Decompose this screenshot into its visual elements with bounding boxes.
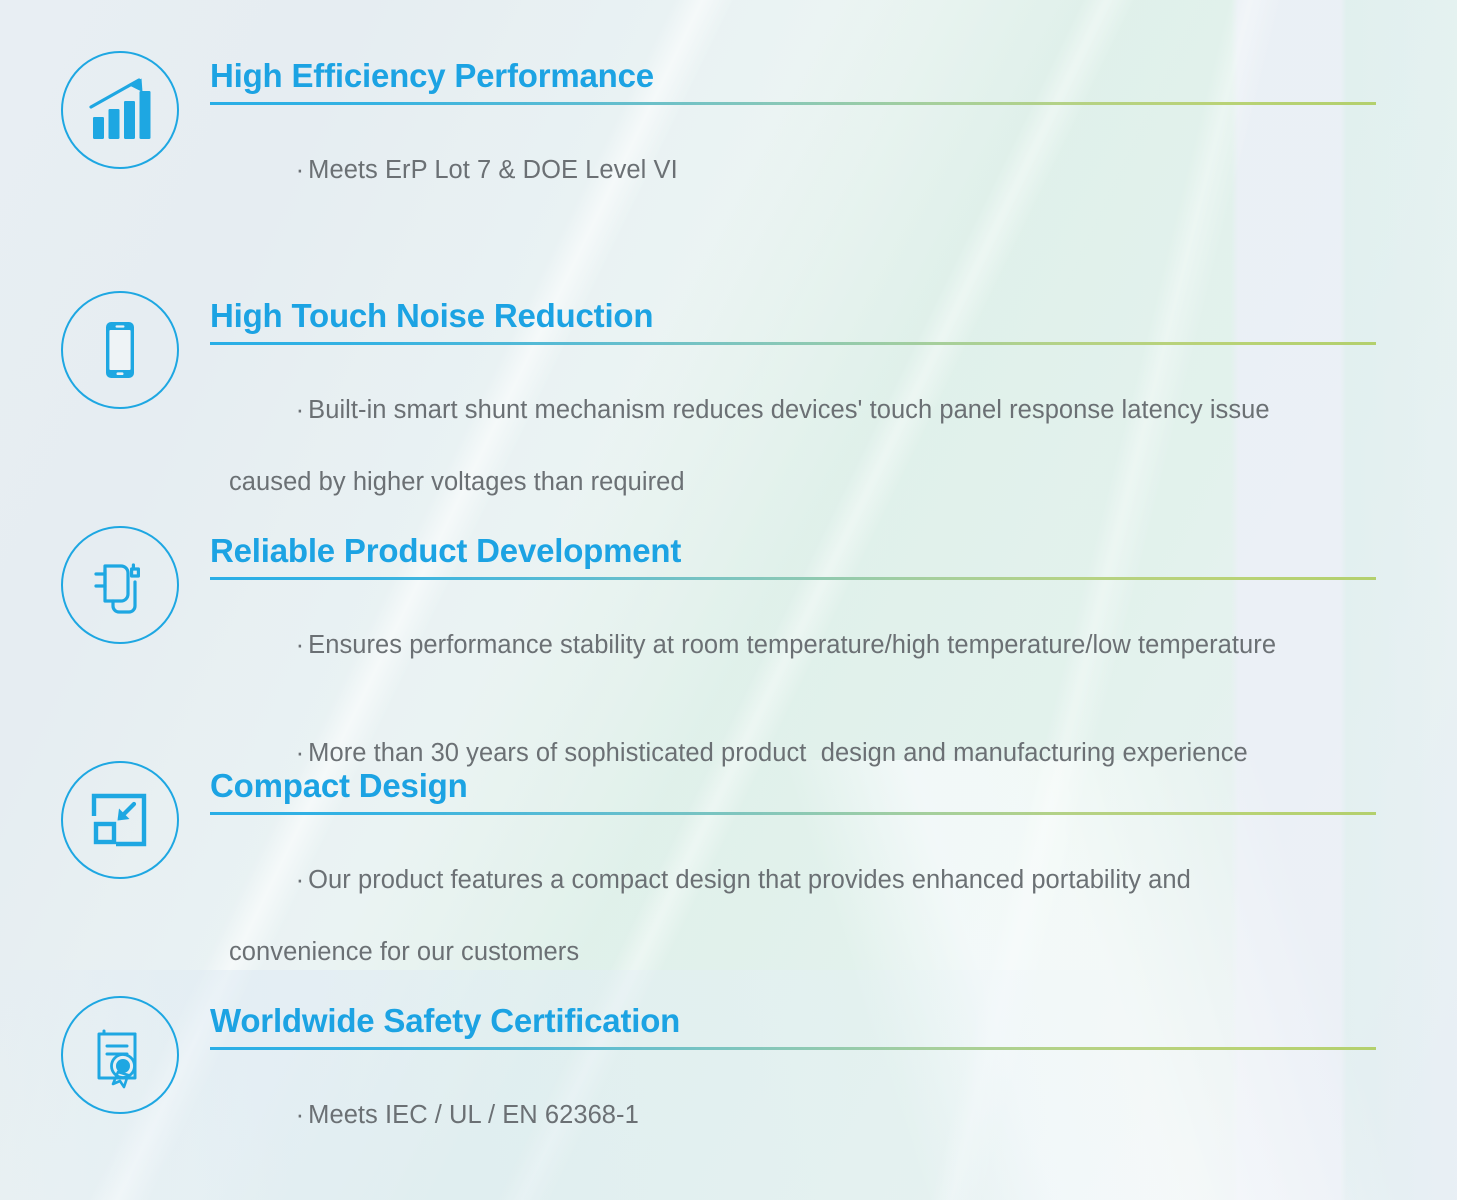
feature-divider	[210, 577, 1376, 580]
certificate-award-icon	[61, 996, 179, 1114]
bullet-text: Meets ErP Lot 7 & DOE Level VI	[308, 156, 678, 184]
feature-icon-wrapper	[58, 48, 182, 172]
power-adapter-icon	[61, 526, 179, 644]
feature-icon-wrapper	[58, 523, 182, 647]
feature-icon-wrapper	[58, 288, 182, 412]
bullet-text-continuation: caused by higher voltages than required	[210, 465, 1378, 501]
smartphone-icon	[61, 291, 179, 409]
feature-body: High Efficiency Performance ·Meets ErP L…	[210, 58, 1378, 225]
feature-divider	[210, 1047, 1376, 1050]
bullet-marker: ·	[296, 1101, 305, 1129]
feature-divider	[210, 102, 1376, 105]
feature-title: Compact Design	[210, 768, 1378, 805]
feature-icon-wrapper	[58, 993, 182, 1117]
feature-bullets: ·Meets IEC / UL / EN 62368-1	[210, 1062, 1378, 1170]
feature-icon-wrapper	[58, 758, 182, 882]
compact-resize-icon	[61, 761, 179, 879]
feature-bullets: ·Meets ErP Lot 7 & DOE Level VI	[210, 117, 1378, 225]
feature-title: Worldwide Safety Certification	[210, 1003, 1378, 1040]
bullet-marker: ·	[296, 631, 305, 659]
feature-bullet: ·Meets ErP Lot 7 & DOE Level VI	[210, 117, 1378, 225]
bullet-marker: ·	[296, 739, 305, 767]
feature-title: Reliable Product Development	[210, 533, 1378, 570]
feature-highlights-page: High Efficiency Performance ·Meets ErP L…	[0, 0, 1457, 1200]
feature-title: High Efficiency Performance	[210, 58, 1378, 95]
feature-body: Worldwide Safety Certification ·Meets IE…	[210, 1003, 1378, 1170]
bullet-text: Ensures performance stability at room te…	[308, 631, 1276, 659]
bullet-text: Meets IEC / UL / EN 62368-1	[308, 1101, 639, 1129]
bullet-text: Our product features a compact design th…	[308, 866, 1191, 894]
feature-bullet: ·Meets IEC / UL / EN 62368-1	[210, 1062, 1378, 1170]
bullet-text: More than 30 years of sophisticated prod…	[308, 739, 1248, 767]
feature-divider	[210, 342, 1376, 345]
bullet-marker: ·	[296, 866, 305, 894]
feature-title: High Touch Noise Reduction	[210, 298, 1378, 335]
feature-divider	[210, 812, 1376, 815]
bullet-marker: ·	[296, 396, 305, 424]
bar-chart-growth-icon	[61, 51, 179, 169]
bullet-text: Built-in smart shunt mechanism reduces d…	[308, 396, 1269, 424]
feature-bullet: ·Ensures performance stability at room t…	[210, 592, 1378, 700]
bullet-text-continuation: convenience for our customers	[210, 935, 1378, 971]
bullet-marker: ·	[296, 156, 305, 184]
